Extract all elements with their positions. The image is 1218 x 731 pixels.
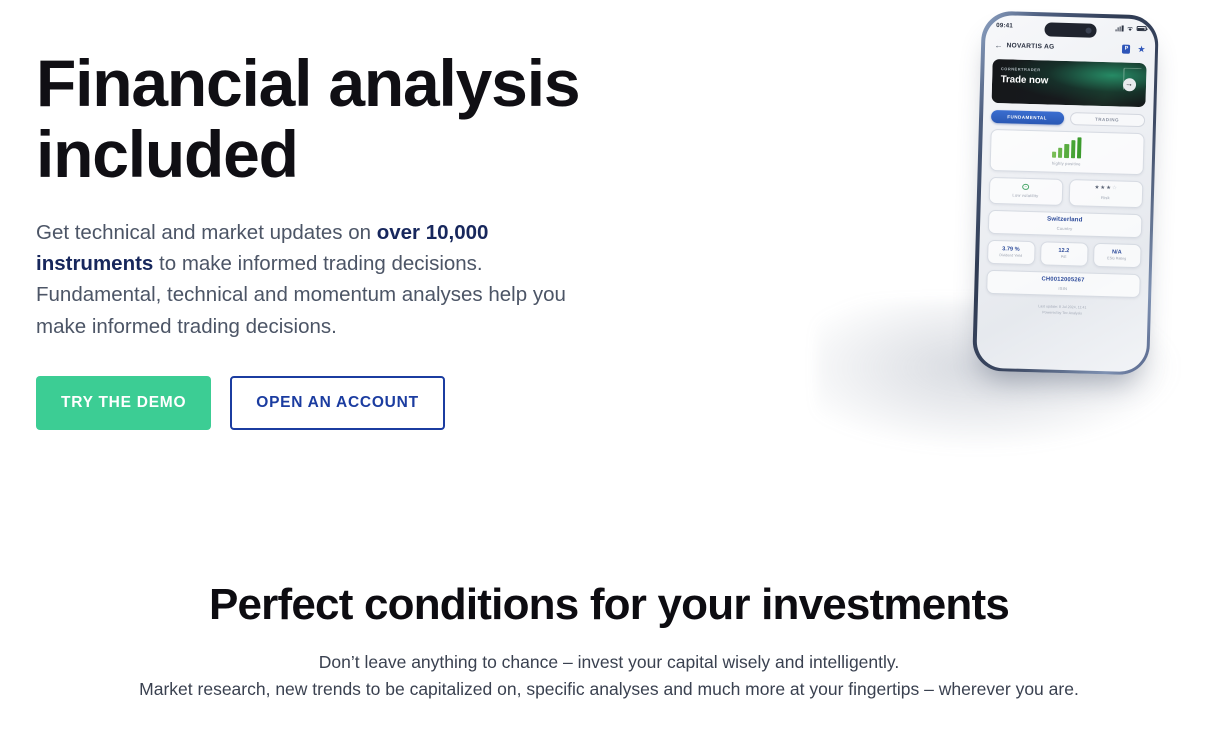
star-rating-icon: ★★★☆ [1094,186,1117,192]
isin-value: CH0012005267 [1041,276,1084,283]
metric-cards-row: ~ Low volatility ★★★☆ Risk [988,176,1143,207]
hero-buttons: TRY THE DEMO OPEN AN ACCOUNT [36,376,646,430]
phone-screen: 09:41 ← NOVARTIS AG [976,14,1156,372]
open-an-account-button[interactable]: OPEN AN ACCOUNT [230,376,445,430]
sentiment-caption: highly positive [1052,160,1081,166]
hero-copy: Financial analysis included Get technica… [36,48,646,430]
back-arrow-icon[interactable]: ← [994,41,1002,49]
tab-trading[interactable]: TRADING [1069,112,1144,127]
tab-fundamental[interactable]: FUNDAMENTAL [990,109,1063,124]
app-header-right: P ★ [1122,45,1145,55]
hero-subtitle: Get technical and market updates on over… [36,217,596,342]
volatility-card[interactable]: ~ Low volatility [988,176,1063,205]
stat-value: N/A [1112,249,1122,255]
app-header-left: ← NOVARTIS AG [994,41,1054,51]
country-name: Switzerland [1047,215,1083,223]
stat-card-pe[interactable]: 12.2 P/E [1039,241,1088,266]
sentiment-bar-chart-icon [1052,137,1081,158]
isin-card[interactable]: CH0012005267 ISIN [986,269,1141,297]
app-footnotes: Last update: 8 Jul 2024, 11:41 Powered b… [985,301,1139,319]
dynamic-island [1044,22,1096,37]
conditions-section: Perfect conditions for your investments … [0,580,1218,703]
app-body: CORNÈRTRADER Trade now → FUNDAMENTAL TRA… [977,54,1154,319]
banner-brand: CORNÈRTRADER [1001,66,1137,75]
wifi-icon [1126,25,1133,31]
try-the-demo-button[interactable]: TRY THE DEMO [36,376,211,430]
signal-icon [1115,25,1123,31]
hero-subtitle-part-1: Get technical and market updates on [36,221,377,244]
trade-now-banner[interactable]: CORNÈRTRADER Trade now → [991,58,1146,106]
stat-value: 12.2 [1058,248,1069,254]
stats-row: 3.79 % Dividend Yield 12.2 P/E N/A ESG R… [987,239,1142,267]
volatility-icon: ~ [1022,184,1029,191]
phone-frame: 09:41 ← NOVARTIS AG [972,11,1159,376]
country-card[interactable]: Switzerland Country [987,209,1142,237]
banner-title: Trade now [1001,74,1137,89]
risk-caption: Risk [1101,195,1110,200]
phone-mockup: 09:41 ← NOVARTIS AG [798,0,1218,470]
volatility-caption: Low volatility [1012,193,1038,199]
section-subtitle: Don’t leave anything to chance – invest … [0,649,1218,703]
stat-label: Dividend Yield [999,253,1022,258]
status-bar-time: 09:41 [996,21,1013,28]
portfolio-badge-icon[interactable]: P [1122,45,1130,54]
stat-label: ESG Rating [1107,256,1126,261]
stat-card-dividend-yield[interactable]: 3.79 % Dividend Yield [987,239,1036,264]
section-title: Perfect conditions for your investments [0,580,1218,631]
app-header-title: NOVARTIS AG [1006,42,1054,50]
sentiment-card[interactable]: highly positive [989,128,1144,174]
stat-label: P/E [1061,255,1067,259]
stat-value: 3.79 % [1002,246,1020,252]
favorite-star-icon[interactable]: ★ [1137,45,1145,54]
hero-title: Financial analysis included [36,48,646,191]
isin-caption: ISIN [1058,285,1067,290]
battery-icon [1136,26,1146,31]
hero-section: Financial analysis included Get technica… [0,0,1218,470]
landing-page: Financial analysis included Get technica… [0,0,1218,731]
risk-rating-card[interactable]: ★★★☆ Risk [1068,179,1143,208]
app-tabs: FUNDAMENTAL TRADING [990,109,1144,126]
country-caption: Country [1057,226,1073,231]
stat-card-esg-rating[interactable]: N/A ESG Rating [1092,242,1141,267]
status-bar-icons [1115,25,1146,32]
